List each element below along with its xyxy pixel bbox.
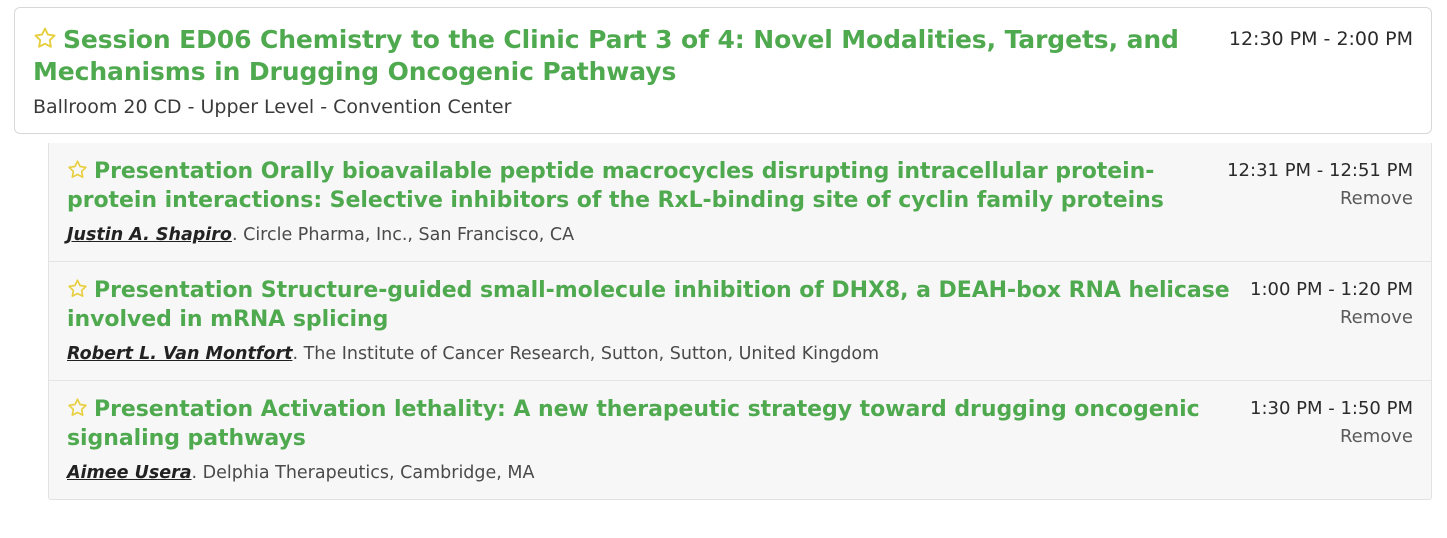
session-title-line[interactable]: Session ED06 Chemistry to the Clinic Par… <box>33 24 1205 87</box>
presentation-side: 12:31 PM - 12:51 PM Remove <box>1227 157 1413 211</box>
presentation-authors: Aimee Usera. Delphia Therapeutics, Cambr… <box>67 463 1230 485</box>
session-card: Session ED06 Chemistry to the Clinic Par… <box>14 7 1432 134</box>
star-outline-icon[interactable] <box>67 159 88 180</box>
agenda-page: Session ED06 Chemistry to the Clinic Par… <box>0 0 1447 538</box>
remove-button[interactable]: Remove <box>1250 425 1413 448</box>
presentation-title-text[interactable]: Presentation Orally bioavailable peptide… <box>67 159 1164 213</box>
presentation-row: Presentation Orally bioavailable peptide… <box>49 143 1431 261</box>
presentation-main: Presentation Orally bioavailable peptide… <box>67 157 1227 247</box>
author-name[interactable]: Justin A. Shapiro <box>67 225 232 245</box>
author-name[interactable]: Robert L. Van Montfort <box>67 344 292 364</box>
remove-button[interactable]: Remove <box>1227 187 1413 210</box>
presentation-main: Presentation Activation lethality: A new… <box>67 395 1250 485</box>
star-outline-icon[interactable] <box>67 278 88 299</box>
presentation-time: 1:00 PM - 1:20 PM <box>1250 278 1413 301</box>
presentation-title-line[interactable]: Presentation Structure-guided small-mole… <box>67 276 1230 334</box>
presentation-list: Presentation Orally bioavailable peptide… <box>48 143 1432 500</box>
presentation-title-line[interactable]: Presentation Activation lethality: A new… <box>67 395 1230 453</box>
presentation-title-text[interactable]: Presentation Structure-guided small-mole… <box>67 278 1230 332</box>
session-title-text[interactable]: Session ED06 Chemistry to the Clinic Par… <box>33 25 1179 86</box>
session-header-row: Session ED06 Chemistry to the Clinic Par… <box>33 24 1413 119</box>
presentation-title-text[interactable]: Presentation Activation lethality: A new… <box>67 397 1200 451</box>
star-outline-icon[interactable] <box>67 397 88 418</box>
presentation-title-line[interactable]: Presentation Orally bioavailable peptide… <box>67 157 1207 215</box>
presentation-time: 12:31 PM - 12:51 PM <box>1227 159 1413 182</box>
presentation-authors: Justin A. Shapiro. Circle Pharma, Inc., … <box>67 225 1207 247</box>
author-affiliation: . Delphia Therapeutics, Cambridge, MA <box>192 463 535 483</box>
presentation-side: 1:30 PM - 1:50 PM Remove <box>1250 395 1413 449</box>
author-affiliation: . The Institute of Cancer Research, Sutt… <box>292 344 879 364</box>
remove-button[interactable]: Remove <box>1250 306 1413 329</box>
presentation-authors: Robert L. Van Montfort. The Institute of… <box>67 344 1230 366</box>
presentation-main: Presentation Structure-guided small-mole… <box>67 276 1250 366</box>
session-time: 12:30 PM - 2:00 PM <box>1229 24 1413 52</box>
presentation-side: 1:00 PM - 1:20 PM Remove <box>1250 276 1413 330</box>
session-main: Session ED06 Chemistry to the Clinic Par… <box>33 24 1229 119</box>
presentation-time: 1:30 PM - 1:50 PM <box>1250 397 1413 420</box>
author-name[interactable]: Aimee Usera <box>67 463 192 483</box>
author-affiliation: . Circle Pharma, Inc., San Francisco, CA <box>232 225 574 245</box>
session-location: Ballroom 20 CD - Upper Level - Conventio… <box>33 96 1205 119</box>
star-outline-icon[interactable] <box>33 26 57 50</box>
presentation-row: Presentation Activation lethality: A new… <box>49 380 1431 499</box>
presentation-row: Presentation Structure-guided small-mole… <box>49 261 1431 380</box>
